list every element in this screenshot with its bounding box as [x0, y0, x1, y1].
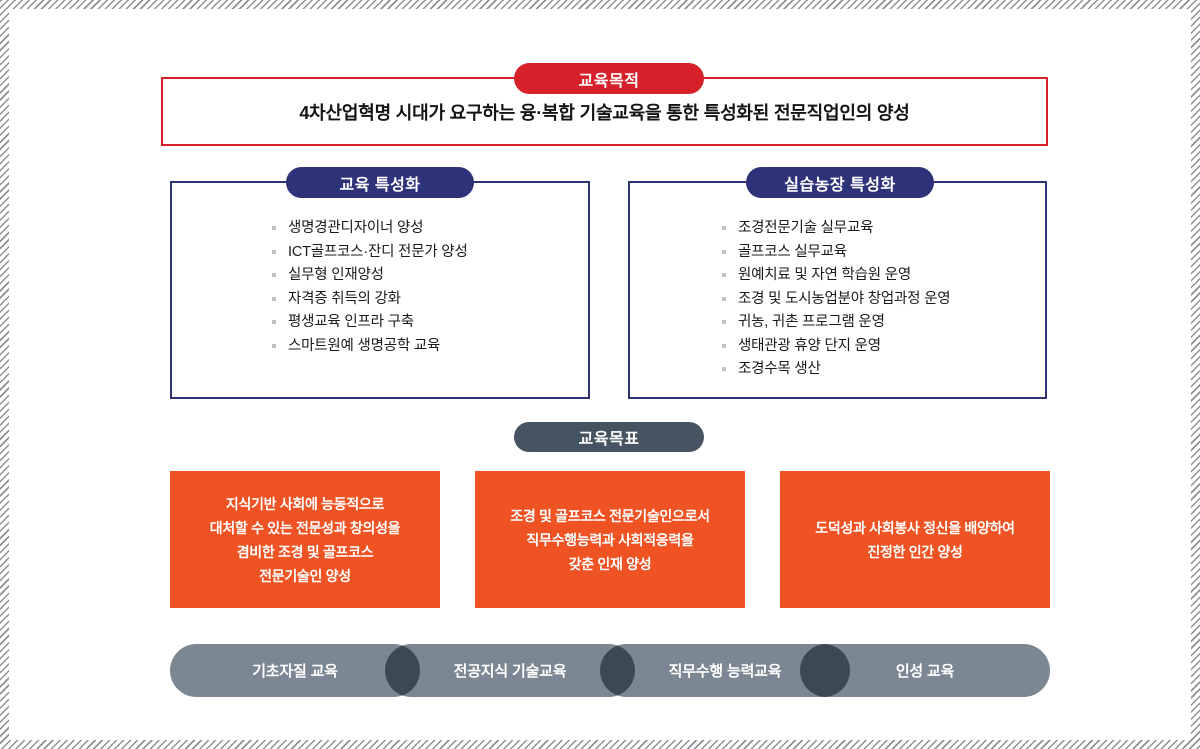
bullet-icon [272, 344, 276, 348]
list-item: 자격증 취득의 강화 [272, 288, 588, 312]
list-item: 조경 및 도시농업분야 창업과정 운영 [722, 288, 1045, 312]
pipeline-stage: 인성 교육 [800, 644, 1050, 697]
goal-card-line: 도덕성과 사회봉사 정신을 배양하여 [815, 516, 1014, 540]
bullet-icon [722, 320, 726, 324]
list-item: 생태관광 휴양 단지 운영 [722, 335, 1045, 359]
bullet-icon [722, 367, 726, 371]
pipeline-stage-label: 전공지식 기술교육 [454, 660, 567, 681]
bullet-icon [722, 250, 726, 254]
pipeline-track: 기초자질 교육 전공지식 기술교육 직무수행 능력교육 인성 교육 [170, 644, 1050, 697]
list-item-label: 자격증 취득의 강화 [288, 291, 401, 307]
bullet-icon [272, 226, 276, 230]
list-item: 조경전문기술 실무교육 [722, 217, 1045, 241]
list-item-label: 조경수목 생산 [738, 361, 821, 377]
goal-card-text: 도덕성과 사회봉사 정신을 배양하여 진정한 인간 양성 [815, 516, 1014, 564]
goal-card-text: 지식기반 사회에 능동적으로 대처할 수 있는 전문성과 창의성을 겸비한 조경… [210, 492, 400, 588]
goal-card-line: 진정한 인간 양성 [815, 540, 1014, 564]
goal-card-line: 대처할 수 있는 전문성과 창의성을 [210, 516, 400, 540]
list-item-label: 원예치료 및 자연 학습원 운영 [738, 267, 911, 283]
list-item: 생명경관디자이너 양성 [272, 217, 588, 241]
list-item-label: ICT골프코스·잔디 전문가 양성 [288, 244, 468, 260]
education-specialization-badge-label: 교육 특성화 [339, 171, 420, 195]
bullet-icon [272, 320, 276, 324]
pipeline-stage-label: 직무수행 능력교육 [669, 660, 782, 681]
farm-specialization-badge-label: 실습농장 특성화 [784, 171, 896, 195]
list-item: 조경수목 생산 [722, 358, 1045, 382]
bullet-icon [272, 273, 276, 277]
bullet-icon [272, 250, 276, 254]
list-item-label: 귀농, 귀촌 프로그램 운영 [738, 314, 885, 330]
bullet-icon [722, 226, 726, 230]
pipeline-stage: 전공지식 기술교육 [385, 644, 635, 697]
farm-specialization-badge: 실습농장 특성화 [746, 167, 934, 198]
list-item: 골프코스 실무교육 [722, 241, 1045, 265]
goal-card: 도덕성과 사회봉사 정신을 배양하여 진정한 인간 양성 [780, 471, 1050, 608]
list-item-label: 평생교육 인프라 구축 [288, 314, 414, 330]
goal-card-text: 조경 및 골프코스 전문기술인으로서 직무수행능력과 사회적응력을 갖춘 인재 … [510, 504, 709, 576]
goal-badge: 교육목표 [514, 422, 704, 452]
goal-card-line: 직무수행능력과 사회적응력을 [510, 528, 709, 552]
goal-card-line: 조경 및 골프코스 전문기술인으로서 [510, 504, 709, 528]
list-item: 귀농, 귀촌 프로그램 운영 [722, 311, 1045, 335]
pipeline-stage-label: 기초자질 교육 [252, 660, 338, 681]
diagram-canvas: 교육목적 4차산업혁명 시대가 요구하는 융·복합 기술교육을 통한 특성화된 … [9, 9, 1191, 740]
education-specialization-list: 생명경관디자이너 양성 ICT골프코스·잔디 전문가 양성 실무형 인재양성 자… [272, 217, 588, 358]
goal-badge-label: 교육목표 [579, 425, 640, 449]
goal-card: 조경 및 골프코스 전문기술인으로서 직무수행능력과 사회적응력을 갖춘 인재 … [475, 471, 745, 608]
list-item: 평생교육 인프라 구축 [272, 311, 588, 335]
list-item-label: 실무형 인재양성 [288, 267, 384, 283]
bullet-icon [272, 297, 276, 301]
list-item: ICT골프코스·잔디 전문가 양성 [272, 241, 588, 265]
list-item-label: 생명경관디자이너 양성 [288, 220, 423, 236]
pipeline-stage-label: 인성 교육 [896, 660, 954, 681]
purpose-badge-label: 교육목적 [579, 67, 640, 91]
pipeline-stage: 기초자질 교육 [170, 644, 420, 697]
bullet-icon [722, 344, 726, 348]
list-item-label: 조경 및 도시농업분야 창업과정 운영 [738, 291, 950, 307]
list-item-label: 조경전문기술 실무교육 [738, 220, 873, 236]
goal-card-line: 지식기반 사회에 능동적으로 [210, 492, 400, 516]
goal-card: 지식기반 사회에 능동적으로 대처할 수 있는 전문성과 창의성을 겸비한 조경… [170, 471, 440, 608]
education-specialization-box: 생명경관디자이너 양성 ICT골프코스·잔디 전문가 양성 실무형 인재양성 자… [170, 181, 590, 399]
purpose-statement: 4차산업혁명 시대가 요구하는 융·복합 기술교육을 통한 특성화된 전문직업인… [299, 99, 909, 125]
education-specialization-badge: 교육 특성화 [286, 167, 474, 198]
list-item: 실무형 인재양성 [272, 264, 588, 288]
purpose-badge: 교육목적 [514, 63, 704, 94]
list-item-label: 생태관광 휴양 단지 운영 [738, 338, 881, 354]
list-item-label: 스마트원예 생명공학 교육 [288, 338, 440, 354]
farm-specialization-box: 조경전문기술 실무교육 골프코스 실무교육 원예치료 및 자연 학습원 운영 조… [628, 181, 1047, 399]
list-item: 원예치료 및 자연 학습원 운영 [722, 264, 1045, 288]
list-item-label: 골프코스 실무교육 [738, 244, 847, 260]
bullet-icon [722, 297, 726, 301]
list-item: 스마트원예 생명공학 교육 [272, 335, 588, 359]
farm-specialization-list: 조경전문기술 실무교육 골프코스 실무교육 원예치료 및 자연 학습원 운영 조… [722, 217, 1045, 382]
goal-card-line: 전문기술인 양성 [210, 564, 400, 588]
bullet-icon [722, 273, 726, 277]
goal-card-line: 갖춘 인재 양성 [510, 552, 709, 576]
goal-card-line: 겸비한 조경 및 골프코스 [210, 540, 400, 564]
